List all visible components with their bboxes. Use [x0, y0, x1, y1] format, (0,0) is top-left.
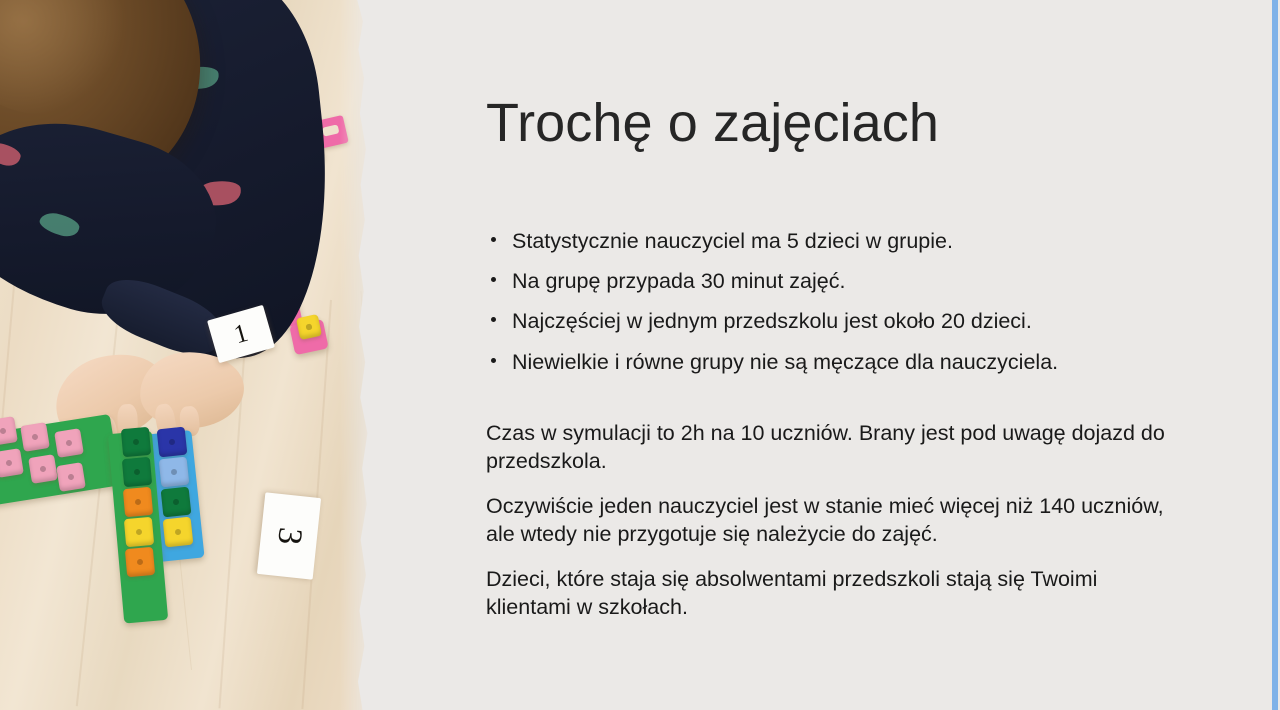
list-item-label: Statystycznie nauczyciel ma 5 dzieci w g…	[512, 229, 953, 253]
paragraph: Dzieci, które staja się absolwentami prz…	[486, 566, 1186, 622]
bullet-dot-icon	[491, 237, 496, 242]
cube-pink	[28, 454, 58, 484]
cube-green	[122, 457, 152, 487]
list-item: Niewielkie i równe grupy nie są męczące …	[488, 349, 1188, 375]
list-item-label: Niewielkie i równe grupy nie są męczące …	[512, 350, 1058, 374]
photo-clip: 1 3	[0, 0, 378, 710]
paragraph-block: Czas w symulacji to 2h na 10 uczniów. Br…	[486, 420, 1186, 622]
cube-orange	[125, 547, 155, 577]
slide-content: Trochę o zajęciach Statystycznie nauczyc…	[486, 0, 1246, 710]
list-item-label: Najczęściej w jednym przedszkolu jest ok…	[512, 309, 1032, 333]
list-item: Na grupę przypada 30 minut zajęć.	[488, 268, 1188, 294]
cube-green	[161, 487, 192, 518]
bullet-list: Statystycznie nauczyciel ma 5 dzieci w g…	[488, 228, 1188, 389]
cube-pink	[20, 422, 50, 452]
slide-photo: 1 3	[0, 0, 378, 710]
number-card: 3	[257, 492, 321, 579]
cube-light-blue	[159, 457, 190, 488]
cube-orange	[123, 487, 153, 517]
cube-green	[121, 427, 151, 457]
bullet-dot-icon	[491, 277, 496, 282]
list-item-label: Na grupę przypada 30 minut zajęć.	[512, 269, 845, 293]
list-item: Statystycznie nauczyciel ma 5 dzieci w g…	[488, 228, 1188, 254]
cube-pink	[54, 428, 84, 458]
paragraph: Oczywiście jeden nauczyciel jest w stani…	[486, 493, 1186, 549]
cube-yellow	[163, 517, 194, 548]
presentation-slide: 1 3 Trochę o zajęciach Statystycznie nau…	[0, 0, 1280, 710]
list-item: Najczęściej w jednym przedszkolu jest ok…	[488, 308, 1188, 334]
cube-pink	[56, 462, 86, 492]
dinosaur-print	[0, 140, 23, 169]
bullet-dot-icon	[491, 317, 496, 322]
cube-dark-blue	[157, 427, 188, 458]
cube-yellow	[124, 517, 154, 547]
dinosaur-print	[37, 209, 81, 239]
bullet-dot-icon	[491, 358, 496, 363]
slide-edge-accent	[1272, 0, 1278, 710]
cube-yellow	[296, 314, 322, 340]
cube-pink	[0, 448, 24, 478]
paragraph: Czas w symulacji to 2h na 10 uczniów. Br…	[486, 420, 1186, 476]
slide-title: Trochę o zajęciach	[486, 94, 939, 153]
